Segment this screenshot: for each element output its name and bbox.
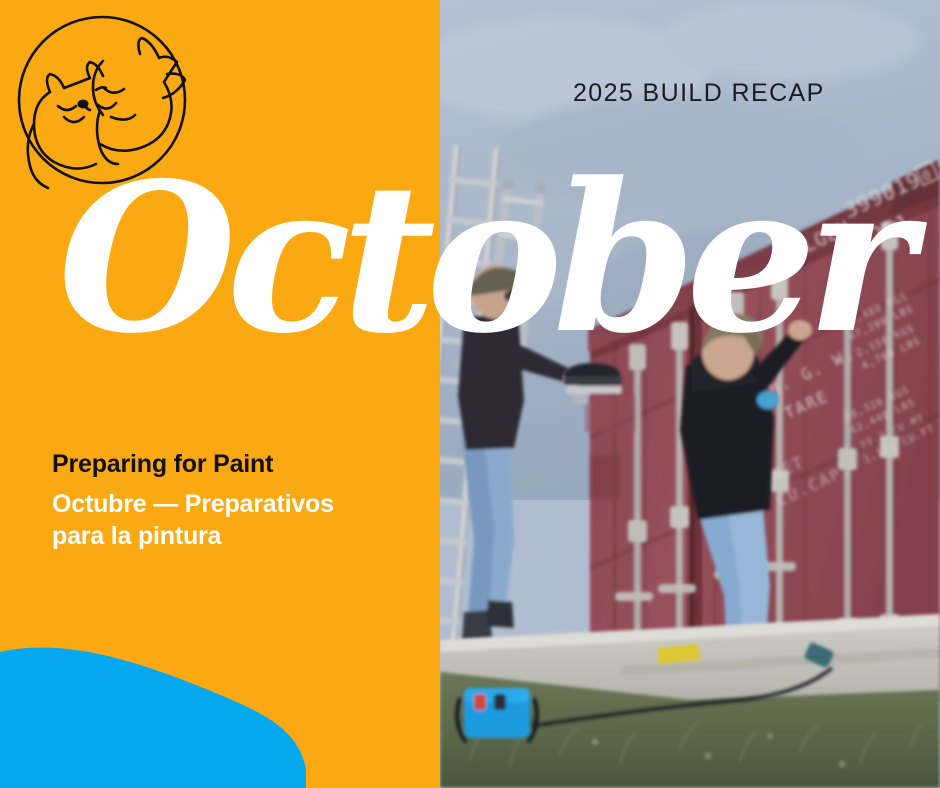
logo-circle-outline	[19, 17, 185, 183]
small-cat-eye-left	[58, 106, 76, 110]
caption-block: Preparing for Paint Octubre — Preparativ…	[52, 450, 422, 553]
small-cat-left-ear	[47, 74, 64, 92]
caption-spanish: Octubre — Preparativos para la pintura	[52, 488, 392, 553]
big-cat-chin	[111, 115, 135, 120]
small-cat-brow	[64, 78, 90, 88]
build-photo: LGEU 399019 0 22G1 M. G. W. TARE 30,480 …	[440, 0, 940, 788]
big-cat-head	[100, 38, 177, 151]
two-cats-circle-logo	[12, 12, 192, 192]
poster-canvas: LGEU 399019 0 22G1 M. G. W. TARE 30,480 …	[0, 0, 940, 788]
small-cat-nose	[78, 100, 89, 109]
caption-english: Preparing for Paint	[52, 450, 422, 480]
photo-overlay-label: 2025 BUILD RECAP	[573, 79, 825, 108]
photo-illustration: LGEU 399019 0 22G1 M. G. W. TARE 30,480 …	[440, 0, 940, 788]
big-cat-mouth	[98, 103, 116, 109]
small-cat-mouth	[64, 117, 84, 122]
